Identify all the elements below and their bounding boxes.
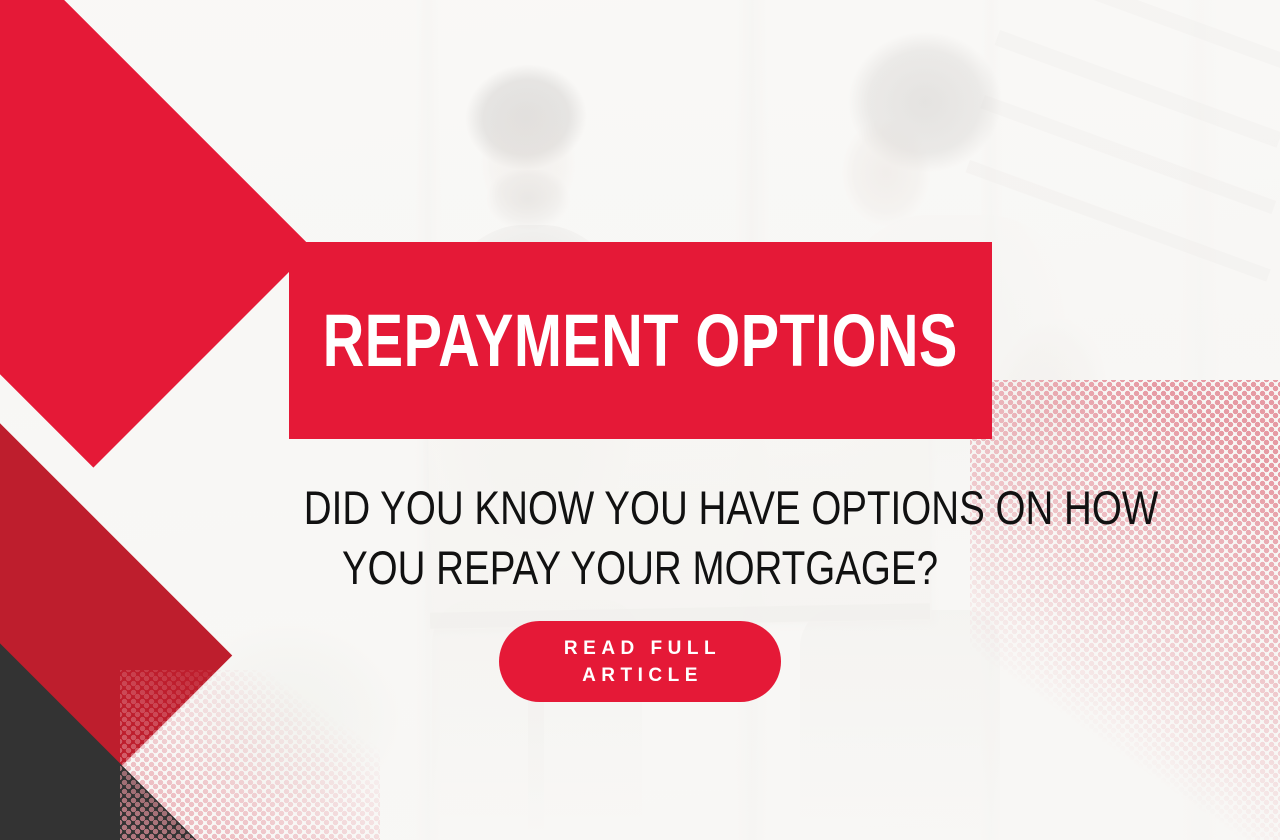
headline-banner: REPAYMENT OPTIONS — [289, 242, 992, 439]
cta-label-line-2: ARTICLE — [577, 662, 703, 689]
subtitle: DID YOU KNOW YOU HAVE OPTIONS ON HOW YOU… — [230, 478, 1050, 598]
promotional-banner: REPAYMENT OPTIONS DID YOU KNOW YOU HAVE … — [0, 0, 1280, 840]
cta-label-line-1: READ FULL — [559, 635, 721, 662]
read-full-article-button[interactable]: READ FULL ARTICLE — [499, 621, 781, 702]
page-title: REPAYMENT OPTIONS — [323, 304, 958, 378]
subtitle-line-1: DID YOU KNOW YOU HAVE OPTIONS ON HOW — [304, 478, 976, 538]
subtitle-line-2: YOU REPAY YOUR MORTGAGE? — [304, 538, 976, 598]
